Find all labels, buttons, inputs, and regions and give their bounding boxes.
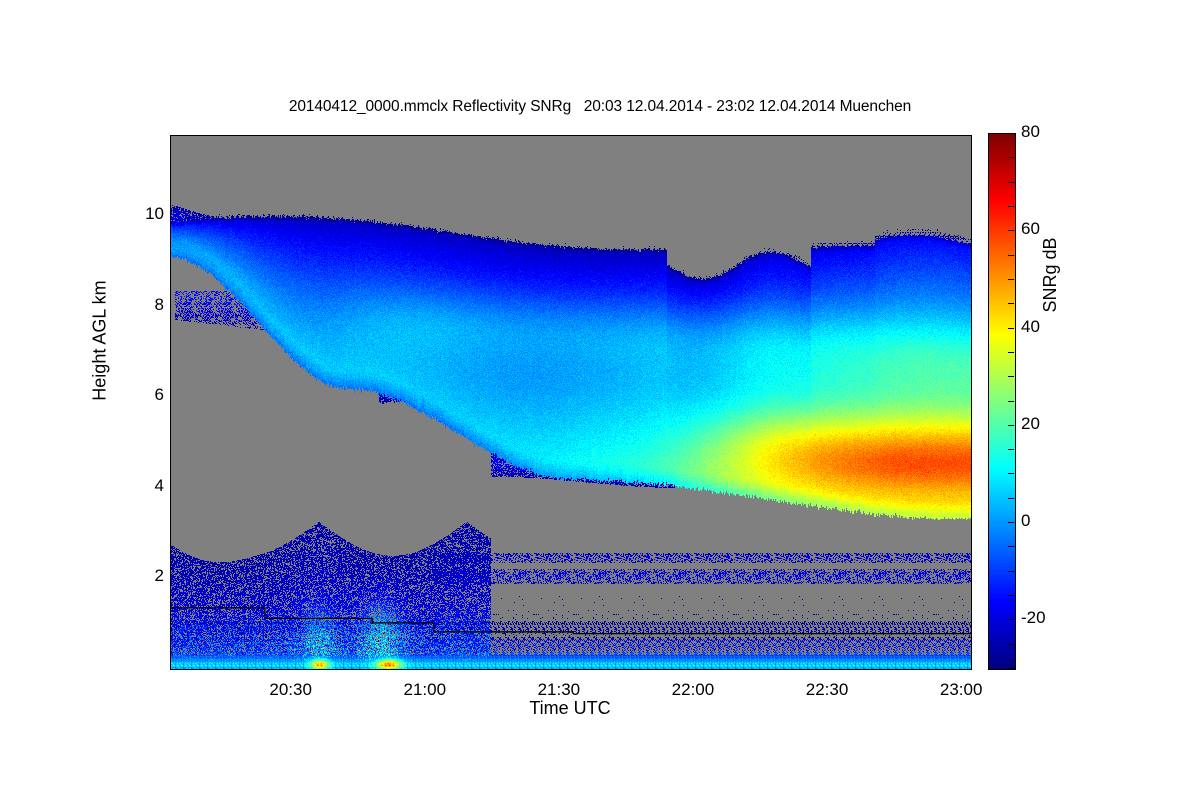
x-tick	[0, 416, 1, 427]
x-tick	[0, 402, 1, 409]
x-tick	[0, 324, 1, 331]
colorbar-tick	[1008, 230, 1014, 231]
x-tick	[0, 218, 1, 225]
colorbar-tick-label: 0	[1021, 511, 1030, 531]
x-tick	[0, 494, 1, 505]
x-tick	[0, 204, 1, 211]
colorbar-tick	[1008, 279, 1014, 280]
colorbar-tick	[1008, 449, 1014, 450]
x-tick	[0, 466, 1, 473]
page-title: 20140412_0000.mmclx Reflectivity SNRg 20…	[0, 98, 1200, 116]
x-tick	[0, 260, 1, 271]
x-tick-top	[0, 55, 1, 62]
x-tick-top	[0, 253, 1, 260]
x-tick-label: 21:00	[380, 680, 470, 700]
colorbar-tick	[1008, 668, 1014, 669]
y-tick-label: 8	[155, 295, 164, 315]
x-tick-top	[0, 367, 1, 374]
x-tick	[0, 452, 1, 459]
x-tick-top	[0, 175, 1, 182]
x-tick	[0, 154, 1, 161]
x-tick	[0, 388, 1, 395]
colorbar-tick	[1008, 522, 1014, 523]
x-tick-top	[0, 239, 1, 246]
y-tick-right	[0, 47, 7, 48]
x-tick	[0, 374, 1, 381]
x-axis-label: Time UTC	[170, 698, 970, 719]
x-tick	[0, 182, 1, 193]
x-tick-top	[0, 147, 1, 154]
x-tick	[0, 310, 1, 317]
colorbar-tick-label: 80	[1021, 122, 1040, 142]
x-tick-top	[0, 473, 1, 480]
x-tick-top	[0, 409, 1, 416]
x-tick	[0, 282, 1, 289]
plot-area[interactable]	[170, 135, 972, 670]
x-tick-top	[0, 381, 1, 388]
x-tick	[0, 76, 1, 83]
x-tick	[0, 246, 1, 253]
colorbar-tick	[1008, 498, 1014, 499]
x-tick	[0, 126, 1, 133]
x-tick-top	[0, 289, 1, 296]
x-tick-top	[0, 271, 1, 282]
x-tick-top	[0, 211, 1, 218]
y-tick-label: 6	[155, 385, 164, 405]
colorbar-tick	[1008, 328, 1014, 329]
x-tick-label: 22:00	[648, 680, 738, 700]
x-tick-top	[0, 303, 1, 310]
x-tick	[0, 360, 1, 367]
colorbar-tick	[1008, 425, 1014, 426]
colorbar-tick	[1008, 157, 1014, 158]
x-tick-label: 22:30	[782, 680, 872, 700]
x-tick-top	[0, 459, 1, 466]
x-tick	[0, 338, 1, 349]
y-tick-label: 2	[155, 566, 164, 586]
radar-figure: 20140412_0000.mmclx Reflectivity SNRg 20…	[0, 0, 1200, 800]
x-tick-top	[0, 193, 1, 204]
colorbar-tick	[1008, 473, 1014, 474]
colorbar-tick	[1008, 546, 1014, 547]
y-tick-label: 10	[145, 204, 164, 224]
x-tick	[0, 48, 1, 55]
x-tick	[0, 140, 1, 147]
x-tick-top	[0, 445, 1, 452]
colorbar-tick	[1008, 133, 1014, 134]
colorbar-tick	[1008, 303, 1014, 304]
colorbar-label: SNRg dB	[1040, 195, 1061, 355]
radar-heatmap-canvas[interactable]	[171, 136, 971, 669]
colorbar-tick	[1008, 376, 1014, 377]
x-tick-top	[0, 427, 1, 438]
x-tick	[0, 232, 1, 239]
x-tick-top	[0, 161, 1, 168]
x-tick	[0, 62, 1, 69]
x-tick-top	[0, 505, 1, 516]
x-tick-top	[0, 225, 1, 232]
colorbar-tick	[1008, 644, 1014, 645]
x-tick-label: 21:30	[514, 680, 604, 700]
x-tick-top	[0, 331, 1, 338]
x-tick-top	[0, 487, 1, 494]
y-tick-label: 4	[155, 476, 164, 496]
colorbar-tick	[1008, 206, 1014, 207]
colorbar-tick	[1008, 255, 1014, 256]
colorbar-tick	[1008, 571, 1014, 572]
colorbar-tick-label: 40	[1021, 317, 1040, 337]
colorbar-tick-label: -20	[1021, 608, 1046, 628]
colorbar-tick-label: 20	[1021, 414, 1040, 434]
x-tick	[0, 90, 1, 97]
x-tick-top	[0, 349, 1, 360]
colorbar-tick	[1008, 595, 1014, 596]
colorbar-tick	[1008, 401, 1014, 402]
x-tick-label: 20:30	[246, 680, 336, 700]
x-tick	[0, 168, 1, 175]
colorbar-tick-label: 60	[1021, 219, 1040, 239]
y-axis-label: Height AGL km	[90, 231, 111, 451]
x-tick	[0, 480, 1, 487]
x-tick-top	[0, 69, 1, 76]
x-tick-top	[0, 395, 1, 402]
colorbar-tick	[1008, 619, 1014, 620]
x-tick-top	[0, 317, 1, 324]
x-tick	[0, 438, 1, 445]
colorbar-tick	[1008, 182, 1014, 183]
x-tick-top	[0, 83, 1, 90]
x-tick	[0, 296, 1, 303]
x-tick-top	[0, 133, 1, 140]
x-tick-top	[0, 115, 1, 126]
x-tick-label: 23:00	[916, 680, 1006, 700]
colorbar-tick	[1008, 352, 1014, 353]
